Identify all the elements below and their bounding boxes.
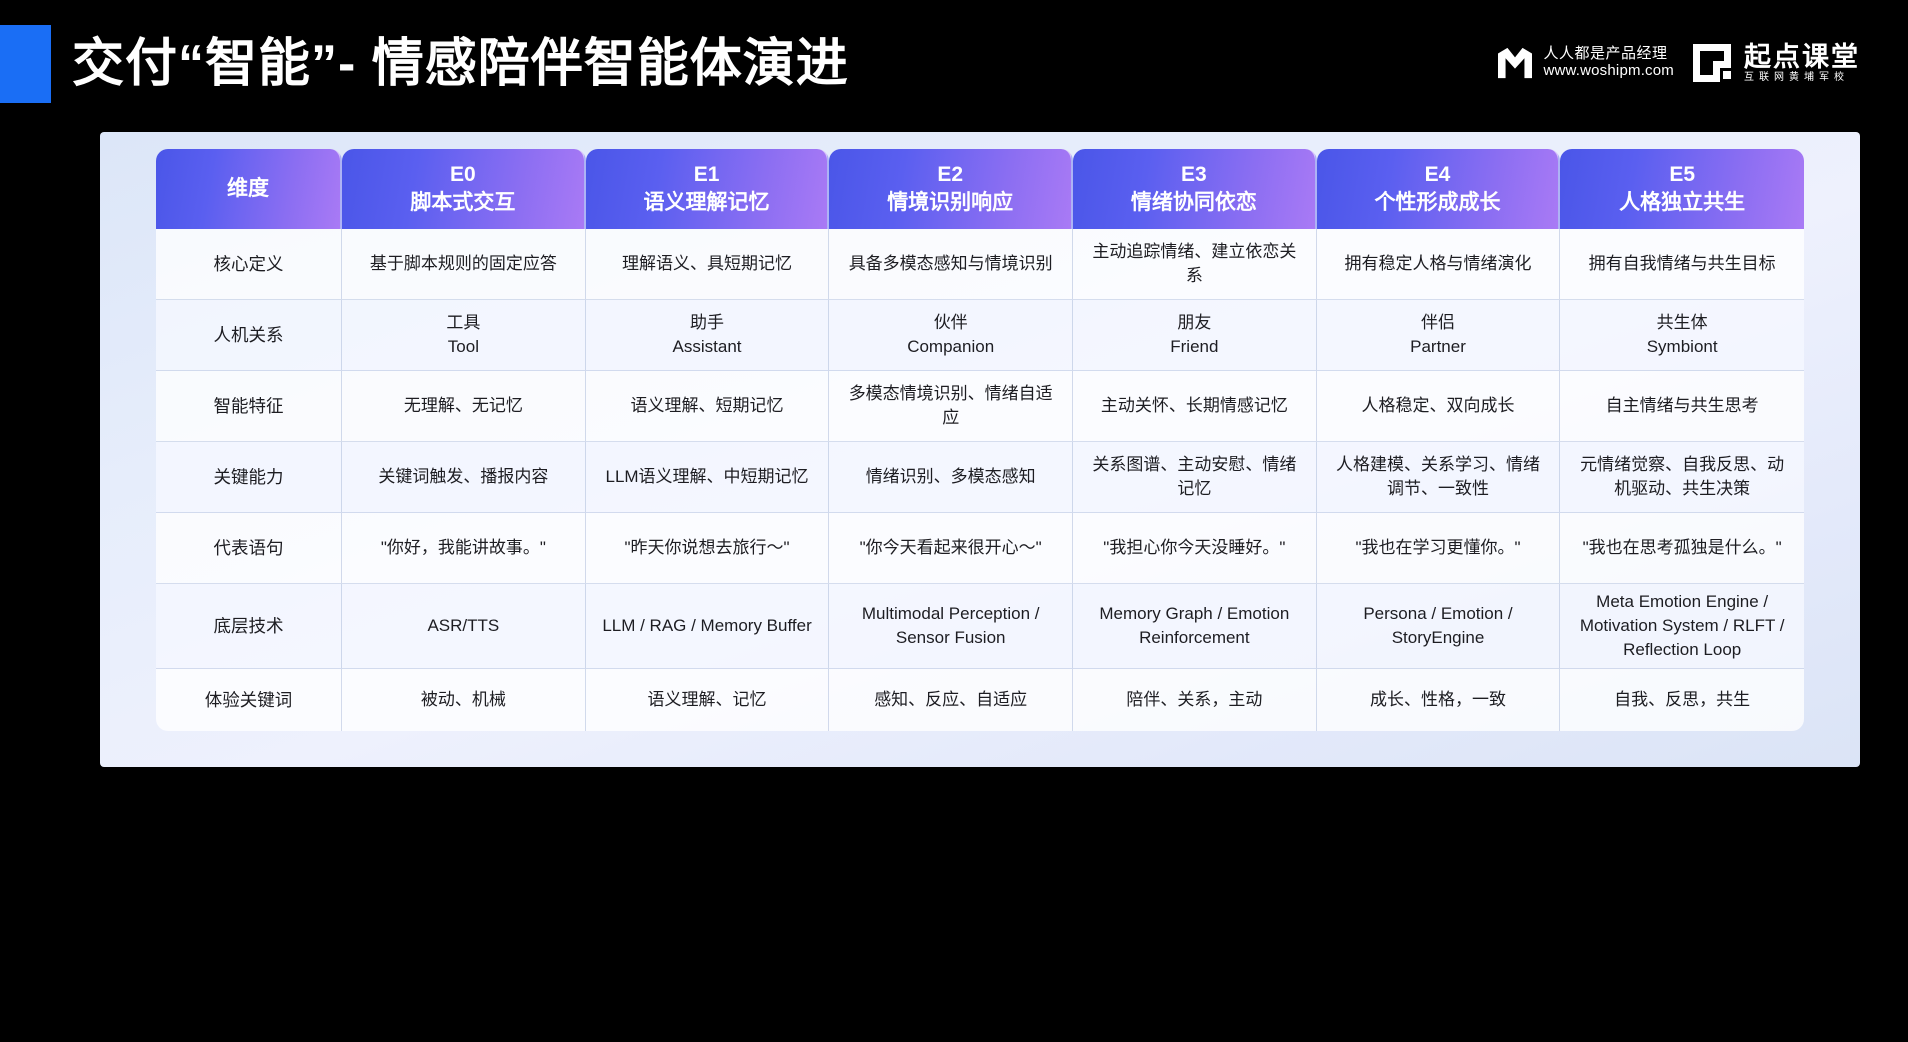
table-cell: 多模态情境识别、情绪自适应	[829, 371, 1073, 442]
table-row: 体验关键词被动、机械语义理解、记忆感知、反应、自适应陪伴、关系，主动成长、性格，…	[156, 669, 1804, 731]
header-name: 语义理解记忆	[592, 189, 822, 217]
row-dimension-label: 底层技术	[156, 584, 342, 669]
table-cell: 主动关怀、长期情感记忆	[1073, 371, 1317, 442]
brand-right-name: 起点课堂	[1744, 43, 1860, 73]
table-cell: 工具Tool	[342, 300, 586, 371]
table-cell: 基于脚本规则的固定应答	[342, 229, 586, 300]
evolution-matrix-table: 维度E0脚本式交互E1语义理解记忆E2情境识别响应E3情绪协同依恋E4个性形成成…	[156, 149, 1804, 731]
table-row: 代表语句"你好，我能讲故事。""昨天你说想去旅行～""你今天看起来很开心～""我…	[156, 513, 1804, 584]
table-header-cell-e0: E0脚本式交互	[342, 149, 586, 229]
row-dimension-label: 智能特征	[156, 371, 342, 442]
table-cell: 被动、机械	[342, 669, 586, 731]
row-dimension-label: 代表语句	[156, 513, 342, 584]
brand-right-sub: 互联网黄埔军校	[1744, 72, 1860, 83]
table-cell: 人格稳定、双向成长	[1317, 371, 1561, 442]
brand-lockup: 人人都是产品经理 www.woshipm.com 起点课堂 互联网黄埔军校	[1496, 32, 1860, 94]
qidian-q-logo-icon	[1690, 41, 1734, 85]
header-name: 脚本式交互	[348, 189, 578, 217]
header-code: E5	[1566, 161, 1798, 189]
table-cell: Persona / Emotion / StoryEngine	[1317, 584, 1561, 669]
table-cell: 共生体Symbiont	[1560, 300, 1804, 371]
table-cell: 伴侣Partner	[1317, 300, 1561, 371]
table-cell: "我也在思考孤独是什么。"	[1560, 513, 1804, 584]
table-header-row: 维度E0脚本式交互E1语义理解记忆E2情境识别响应E3情绪协同依恋E4个性形成成…	[156, 149, 1804, 229]
header-code: E4	[1323, 161, 1553, 189]
table-cell: Multimodal Perception / Sensor Fusion	[829, 584, 1073, 669]
table-header-cell-e5: E5人格独立共生	[1560, 149, 1804, 229]
table-cell: 感知、反应、自适应	[829, 669, 1073, 731]
table-cell: 语义理解、记忆	[586, 669, 830, 731]
header-code: E0	[348, 161, 578, 189]
table-cell: "你好，我能讲故事。"	[342, 513, 586, 584]
table-cell: "昨天你说想去旅行～"	[586, 513, 830, 584]
header-name: 情绪协同依恋	[1079, 189, 1309, 217]
table-cell: 关系图谱、主动安慰、情绪记忆	[1073, 442, 1317, 513]
table-row: 核心定义基于脚本规则的固定应答理解语义、具短期记忆具备多模态感知与情境识别主动追…	[156, 229, 1804, 300]
table-cell: 成长、性格，一致	[1317, 669, 1561, 731]
table-header-cell-e3: E3情绪协同依恋	[1073, 149, 1317, 229]
table-header-cell-e4: E4个性形成成长	[1317, 149, 1561, 229]
table-cell: 朋友Friend	[1073, 300, 1317, 371]
table-row: 智能特征无理解、无记忆语义理解、短期记忆多模态情境识别、情绪自适应主动关怀、长期…	[156, 371, 1804, 442]
table-cell: 情绪识别、多模态感知	[829, 442, 1073, 513]
table-cell: LLM语义理解、中短期记忆	[586, 442, 830, 513]
table-row: 关键能力关键词触发、播报内容LLM语义理解、中短期记忆情绪识别、多模态感知关系图…	[156, 442, 1804, 513]
header-name: 维度	[162, 175, 334, 203]
row-dimension-label: 关键能力	[156, 442, 342, 513]
table-header-cell-e1: E1语义理解记忆	[586, 149, 830, 229]
table-cell: 助手Assistant	[586, 300, 830, 371]
page-title: 交付“智能”- 情感陪伴智能体演进	[72, 25, 849, 103]
row-dimension-label: 人机关系	[156, 300, 342, 371]
header-code: E1	[592, 161, 822, 189]
table-cell: 理解语义、具短期记忆	[586, 229, 830, 300]
table-cell: 拥有稳定人格与情绪演化	[1317, 229, 1561, 300]
table-cell: 人格建模、关系学习、情绪调节、一致性	[1317, 442, 1561, 513]
table-cell: 陪伴、关系，主动	[1073, 669, 1317, 731]
row-dimension-label: 体验关键词	[156, 669, 342, 731]
table-cell: LLM / RAG / Memory Buffer	[586, 584, 830, 669]
header-name: 人格独立共生	[1566, 189, 1798, 217]
table-cell: "我担心你今天没睡好。"	[1073, 513, 1317, 584]
table-cell: Memory Graph / Emotion Reinforcement	[1073, 584, 1317, 669]
table-cell: 元情绪觉察、自我反思、动机驱动、共生决策	[1560, 442, 1804, 513]
table-cell: 自我、反思，共生	[1560, 669, 1804, 731]
content-panel: 维度E0脚本式交互E1语义理解记忆E2情境识别响应E3情绪协同依恋E4个性形成成…	[100, 132, 1860, 767]
brand-woshipm: 人人都是产品经理 www.woshipm.com	[1496, 46, 1674, 80]
table-row: 底层技术ASR/TTSLLM / RAG / Memory BufferMult…	[156, 584, 1804, 669]
accent-block	[0, 25, 51, 103]
slide-header-bar: 交付“智能”- 情感陪伴智能体演进 人人都是产品经理 www.woshipm.c…	[0, 0, 1908, 128]
brand-qidian: 起点课堂 互联网黄埔军校	[1690, 41, 1860, 85]
table-cell: 伙伴Companion	[829, 300, 1073, 371]
table-cell: 主动追踪情绪、建立依恋关系	[1073, 229, 1317, 300]
brand-left-url: www.woshipm.com	[1543, 63, 1674, 80]
row-dimension-label: 核心定义	[156, 229, 342, 300]
header-name: 个性形成成长	[1323, 189, 1553, 217]
header-code: E3	[1079, 161, 1309, 189]
table-row: 人机关系工具Tool助手Assistant伙伴Companion朋友Friend…	[156, 300, 1804, 371]
table-body: 核心定义基于脚本规则的固定应答理解语义、具短期记忆具备多模态感知与情境识别主动追…	[156, 229, 1804, 731]
table-cell: "你今天看起来很开心～"	[829, 513, 1073, 584]
header-name: 情境识别响应	[835, 189, 1065, 217]
table-cell: 自主情绪与共生思考	[1560, 371, 1804, 442]
header-code: E2	[835, 161, 1065, 189]
table-cell: 具备多模态感知与情境识别	[829, 229, 1073, 300]
table-cell: ASR/TTS	[342, 584, 586, 669]
table-cell: "我也在学习更懂你。"	[1317, 513, 1561, 584]
table-header-cell-dimension: 维度	[156, 149, 342, 229]
table-cell: 拥有自我情绪与共生目标	[1560, 229, 1804, 300]
table-cell: 语义理解、短期记忆	[586, 371, 830, 442]
woshipm-m-logo-icon	[1496, 46, 1534, 80]
table-header-cell-e2: E2情境识别响应	[829, 149, 1073, 229]
brand-left-name: 人人都是产品经理	[1543, 46, 1674, 63]
table-cell: 关键词触发、播报内容	[342, 442, 586, 513]
table-cell: 无理解、无记忆	[342, 371, 586, 442]
table-cell: Meta Emotion Engine / Motivation System …	[1560, 584, 1804, 669]
